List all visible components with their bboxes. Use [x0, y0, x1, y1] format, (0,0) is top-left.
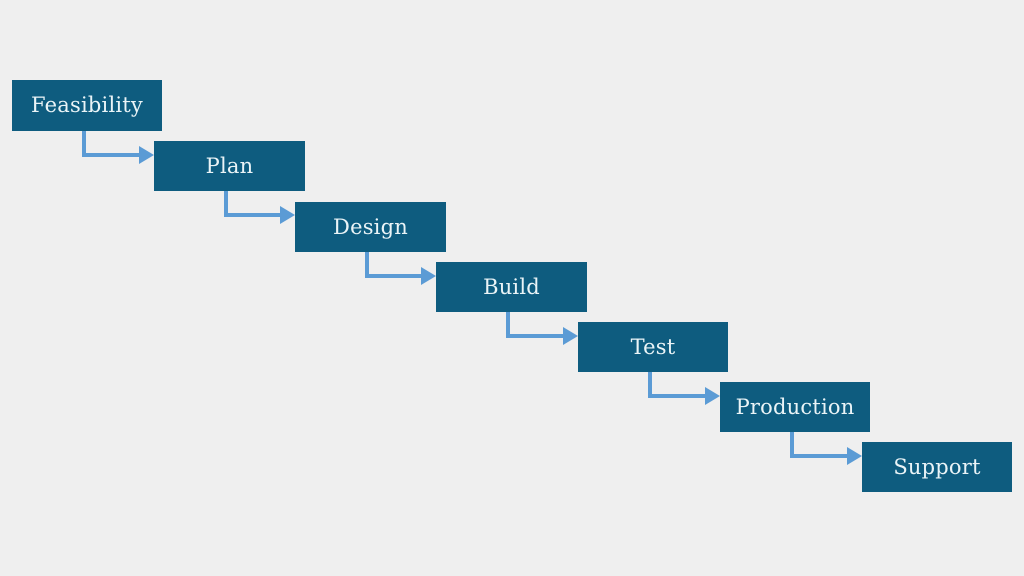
connector-feasibility-to-plan — [84, 131, 154, 164]
phase-label-feasibility: Feasibility — [31, 95, 143, 116]
connector-line — [650, 372, 705, 396]
phase-label-support: Support — [893, 457, 980, 478]
connector-production-to-support — [792, 432, 862, 465]
connector-design-to-build — [367, 252, 436, 285]
connector-line — [226, 191, 280, 215]
phase-box-production[interactable]: Production — [720, 382, 870, 432]
arrowhead-icon — [280, 206, 295, 224]
phase-box-test[interactable]: Test — [578, 322, 728, 372]
phase-box-design[interactable]: Design — [295, 202, 446, 252]
arrowhead-icon — [139, 146, 154, 164]
waterfall-diagram-canvas: FeasibilityPlanDesignBuildTestProduction… — [0, 0, 1024, 576]
arrowhead-icon — [705, 387, 720, 405]
phase-box-feasibility[interactable]: Feasibility — [12, 80, 162, 131]
phase-label-design: Design — [333, 217, 408, 238]
phase-box-support[interactable]: Support — [862, 442, 1012, 492]
connector-line — [508, 312, 563, 336]
phase-label-production: Production — [736, 397, 855, 418]
connector-line — [84, 131, 139, 155]
connector-plan-to-design — [226, 191, 295, 224]
phase-box-build[interactable]: Build — [436, 262, 587, 312]
phase-label-build: Build — [483, 277, 540, 298]
arrowhead-icon — [847, 447, 862, 465]
phase-label-plan: Plan — [206, 156, 254, 177]
connector-line — [367, 252, 421, 276]
arrowhead-icon — [563, 327, 578, 345]
connector-build-to-test — [508, 312, 578, 345]
phase-label-test: Test — [631, 337, 676, 358]
arrowhead-icon — [421, 267, 436, 285]
connector-test-to-production — [650, 372, 720, 405]
connector-line — [792, 432, 847, 456]
phase-box-plan[interactable]: Plan — [154, 141, 305, 191]
